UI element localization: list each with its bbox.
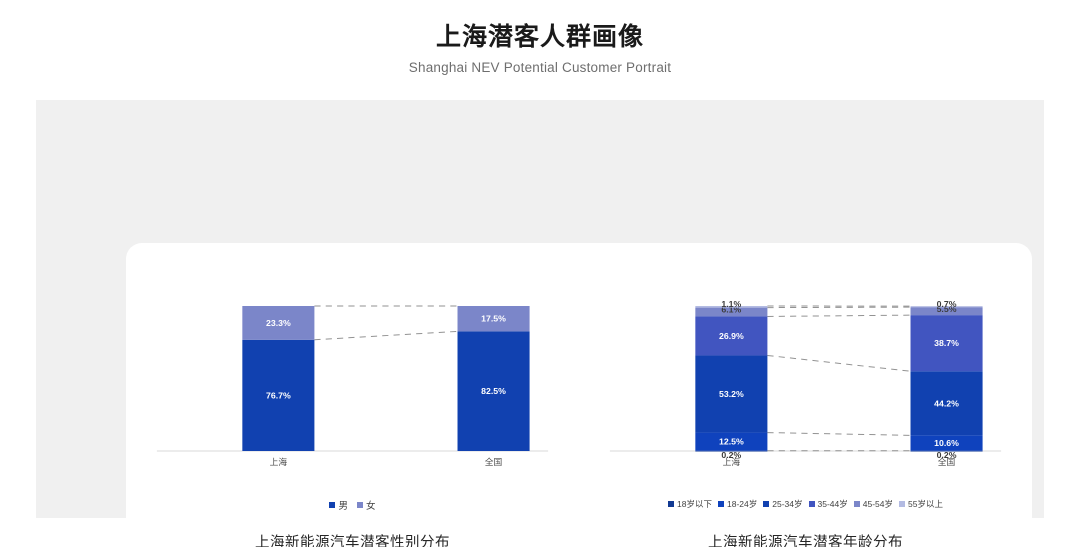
legend-item[interactable]: 45-54岁	[854, 498, 893, 510]
chart-age-svg: 0.2%12.5%53.2%26.9%6.1%1.1%上海0.2%10.6%44…	[579, 288, 1032, 483]
legend-item-label: 45-54岁	[863, 498, 893, 510]
charts-container: 76.7%23.3%上海82.5%17.5%全国 男女 上海新能源汽车潜客性别分…	[126, 243, 1032, 547]
legend-swatch-icon	[854, 501, 860, 507]
bar-value-label: 38.7%	[934, 338, 959, 348]
bar-value-label: 23.3%	[266, 318, 291, 328]
chart-gender-legend: 男女	[126, 498, 579, 512]
legend-item-label: 35-44岁	[818, 498, 848, 510]
legend-swatch-icon	[357, 502, 363, 508]
page-title: 上海潜客人群画像	[0, 22, 1080, 53]
chart-gender-svg: 76.7%23.3%上海82.5%17.5%全国	[126, 288, 579, 483]
chart-age: 0.2%12.5%53.2%26.9%6.1%1.1%上海0.2%10.6%44…	[579, 243, 1032, 547]
bar-value-label: 17.5%	[481, 314, 506, 324]
bar-value-label: 82.5%	[481, 386, 506, 396]
page-root: 上海潜客人群画像 Shanghai NEV Potential Customer…	[0, 0, 1080, 547]
bar-value-label: 44.2%	[934, 398, 959, 408]
legend-swatch-icon	[763, 501, 769, 507]
legend-item[interactable]: 25-34岁	[763, 498, 802, 510]
legend-swatch-icon	[329, 502, 335, 508]
connector-line	[314, 331, 457, 339]
bar-value-label: 76.7%	[266, 391, 291, 401]
axis-category-label: 全国	[485, 456, 502, 467]
bar-value-label: 0.7%	[937, 299, 957, 309]
legend-swatch-icon	[668, 501, 674, 507]
axis-category-label: 全国	[938, 456, 955, 467]
content-panel: 76.7%23.3%上海82.5%17.5%全国 男女 上海新能源汽车潜客性别分…	[36, 100, 1044, 518]
bar-value-label: 10.6%	[934, 438, 959, 448]
legend-swatch-icon	[718, 501, 724, 507]
legend-item[interactable]: 18-24岁	[718, 498, 757, 510]
legend-item-label: 18-24岁	[727, 498, 757, 510]
legend-swatch-icon	[899, 501, 905, 507]
bar-value-label: 26.9%	[719, 331, 744, 341]
legend-item[interactable]: 18岁以下	[668, 498, 712, 510]
legend-item[interactable]: 35-44岁	[809, 498, 848, 510]
legend-swatch-icon	[809, 501, 815, 507]
chart-gender-plot: 76.7%23.3%上海82.5%17.5%全国	[126, 288, 579, 483]
legend-item[interactable]: 55岁以上	[899, 498, 943, 510]
legend-item-label: 25-34岁	[772, 498, 802, 510]
axis-category-label: 上海	[723, 456, 741, 467]
chart-gender: 76.7%23.3%上海82.5%17.5%全国 男女 上海新能源汽车潜客性别分…	[126, 243, 579, 547]
bar-value-label: 53.2%	[719, 389, 744, 399]
legend-item-label: 女	[366, 498, 376, 512]
connector-line	[767, 315, 910, 316]
bar-value-label: 12.5%	[719, 437, 744, 447]
bar-value-label: 1.1%	[721, 299, 741, 309]
connector-line	[767, 355, 910, 371]
chart-age-caption: 上海新能源汽车潜客年龄分布	[579, 531, 1032, 547]
legend-item[interactable]: 男	[329, 498, 348, 512]
chart-age-plot: 0.2%12.5%53.2%26.9%6.1%1.1%上海0.2%10.6%44…	[579, 288, 1032, 483]
page-header: 上海潜客人群画像 Shanghai NEV Potential Customer…	[0, 0, 1080, 75]
connector-line	[767, 433, 910, 436]
page-subtitle: Shanghai NEV Potential Customer Portrait	[0, 60, 1080, 75]
legend-item-label: 18岁以下	[677, 498, 712, 510]
axis-category-label: 上海	[270, 456, 288, 467]
chart-gender-caption: 上海新能源汽车潜客性别分布	[126, 531, 579, 547]
legend-item-label: 55岁以上	[908, 498, 943, 510]
legend-item[interactable]: 女	[357, 498, 376, 512]
legend-item-label: 男	[338, 498, 348, 512]
charts-card: 76.7%23.3%上海82.5%17.5%全国 男女 上海新能源汽车潜客性别分…	[126, 243, 1032, 547]
chart-age-legend: 18岁以下18-24岁25-34岁35-44岁45-54岁55岁以上	[579, 498, 1032, 510]
